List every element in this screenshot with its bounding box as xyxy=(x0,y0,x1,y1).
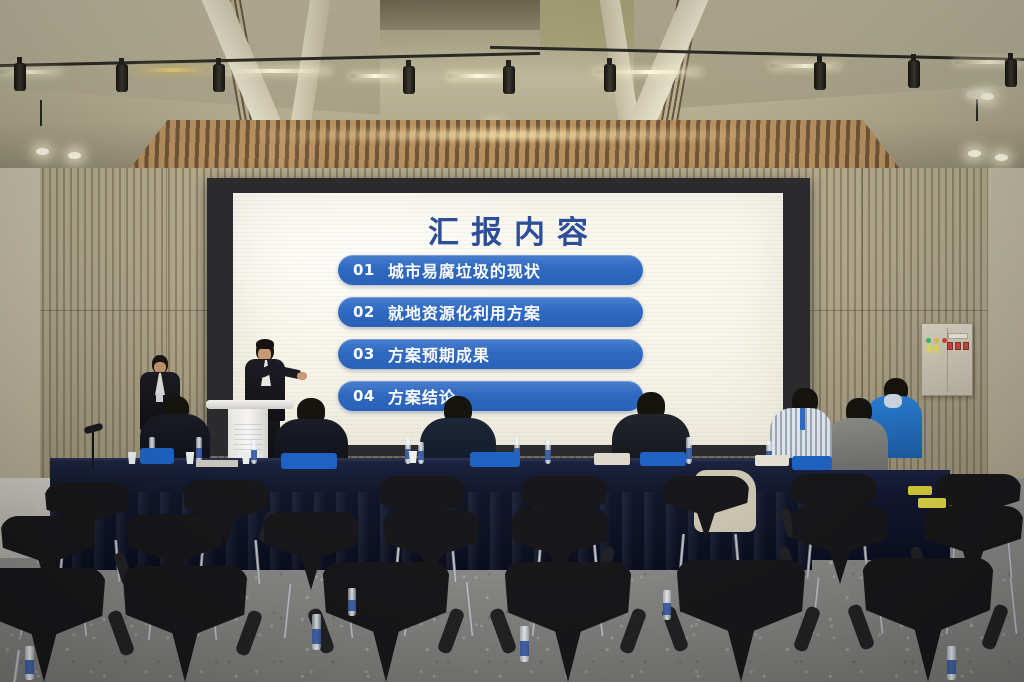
spotlight-9 xyxy=(1005,59,1017,87)
control-panel-indicator-lights xyxy=(926,338,947,343)
downlight-1 xyxy=(36,148,49,155)
ceiling-cove-glow xyxy=(250,130,770,140)
downlight-7 xyxy=(995,154,1008,161)
lanyard xyxy=(800,408,805,430)
indicator-green xyxy=(926,338,931,343)
wall-flat-left xyxy=(0,168,40,478)
indicator-yellow xyxy=(934,338,939,343)
water-bottle-8 xyxy=(686,437,692,464)
blue-bag-3 xyxy=(470,452,520,467)
spotlight-3 xyxy=(213,64,225,92)
yellow-item-2 xyxy=(918,498,946,508)
spotlight-7 xyxy=(814,62,826,90)
downlight-6 xyxy=(968,150,981,157)
blue-bag-2 xyxy=(281,453,337,469)
spotlight-8 xyxy=(908,60,920,88)
strip-light-3 xyxy=(448,74,508,78)
floor-water-bottle-6 xyxy=(348,588,356,616)
water-bottle-7 xyxy=(545,440,551,464)
spotlight-1 xyxy=(14,63,26,91)
conference-room-screenshot: 汇报内容 01 城市易腐垃圾的现状 02 就地资源化利用方案 03 方案预期成果… xyxy=(0,0,1024,682)
podium-top-surface xyxy=(206,400,294,409)
control-button-2[interactable] xyxy=(955,342,961,350)
wall-flat-right xyxy=(988,168,1024,478)
floor-water-bottle-4 xyxy=(947,646,956,680)
downlight-2 xyxy=(68,152,81,159)
presenter-hand xyxy=(297,372,307,380)
spotlight-5 xyxy=(503,66,515,94)
presenter-hair xyxy=(256,339,274,349)
blue-bag-1 xyxy=(140,448,174,464)
strip-light-7 xyxy=(0,70,60,74)
paper-document-3 xyxy=(196,460,238,467)
spotlight-4 xyxy=(403,66,415,94)
downlight-8 xyxy=(981,93,994,100)
water-bottle-5 xyxy=(418,442,424,464)
floor-water-bottle-1 xyxy=(312,614,321,650)
strip-light-1 xyxy=(215,69,330,73)
water-bottle-3 xyxy=(251,440,257,464)
paper-document-1 xyxy=(594,453,630,465)
person-grey-top xyxy=(826,418,888,478)
floor-water-bottle-3 xyxy=(663,590,671,620)
face-mask xyxy=(884,394,902,408)
microphone-stand xyxy=(92,430,94,466)
paper-document-2 xyxy=(755,455,789,466)
control-button-1[interactable] xyxy=(947,342,953,350)
floor-water-bottle-2 xyxy=(520,626,529,662)
spotlight-2 xyxy=(116,64,128,92)
strip-light-2 xyxy=(350,74,400,78)
spotlight-6 xyxy=(604,64,616,92)
yellow-item xyxy=(908,486,932,495)
attendee-badge xyxy=(156,393,163,402)
control-panel-tags xyxy=(926,345,939,353)
control-button-3[interactable] xyxy=(963,342,969,350)
wall-control-panel[interactable] xyxy=(921,323,973,396)
strip-light-5 xyxy=(770,64,840,68)
tag-yellow-2 xyxy=(934,345,939,353)
blue-bag-4 xyxy=(640,452,686,466)
control-panel-display xyxy=(948,333,968,339)
tag-yellow-1 xyxy=(926,345,931,353)
blue-bag-5 xyxy=(792,456,832,470)
floor-water-bottle-5 xyxy=(25,646,34,680)
pendant-rod-left xyxy=(40,100,42,126)
control-panel-buttons[interactable] xyxy=(947,342,969,350)
strip-light-amber xyxy=(135,68,210,72)
